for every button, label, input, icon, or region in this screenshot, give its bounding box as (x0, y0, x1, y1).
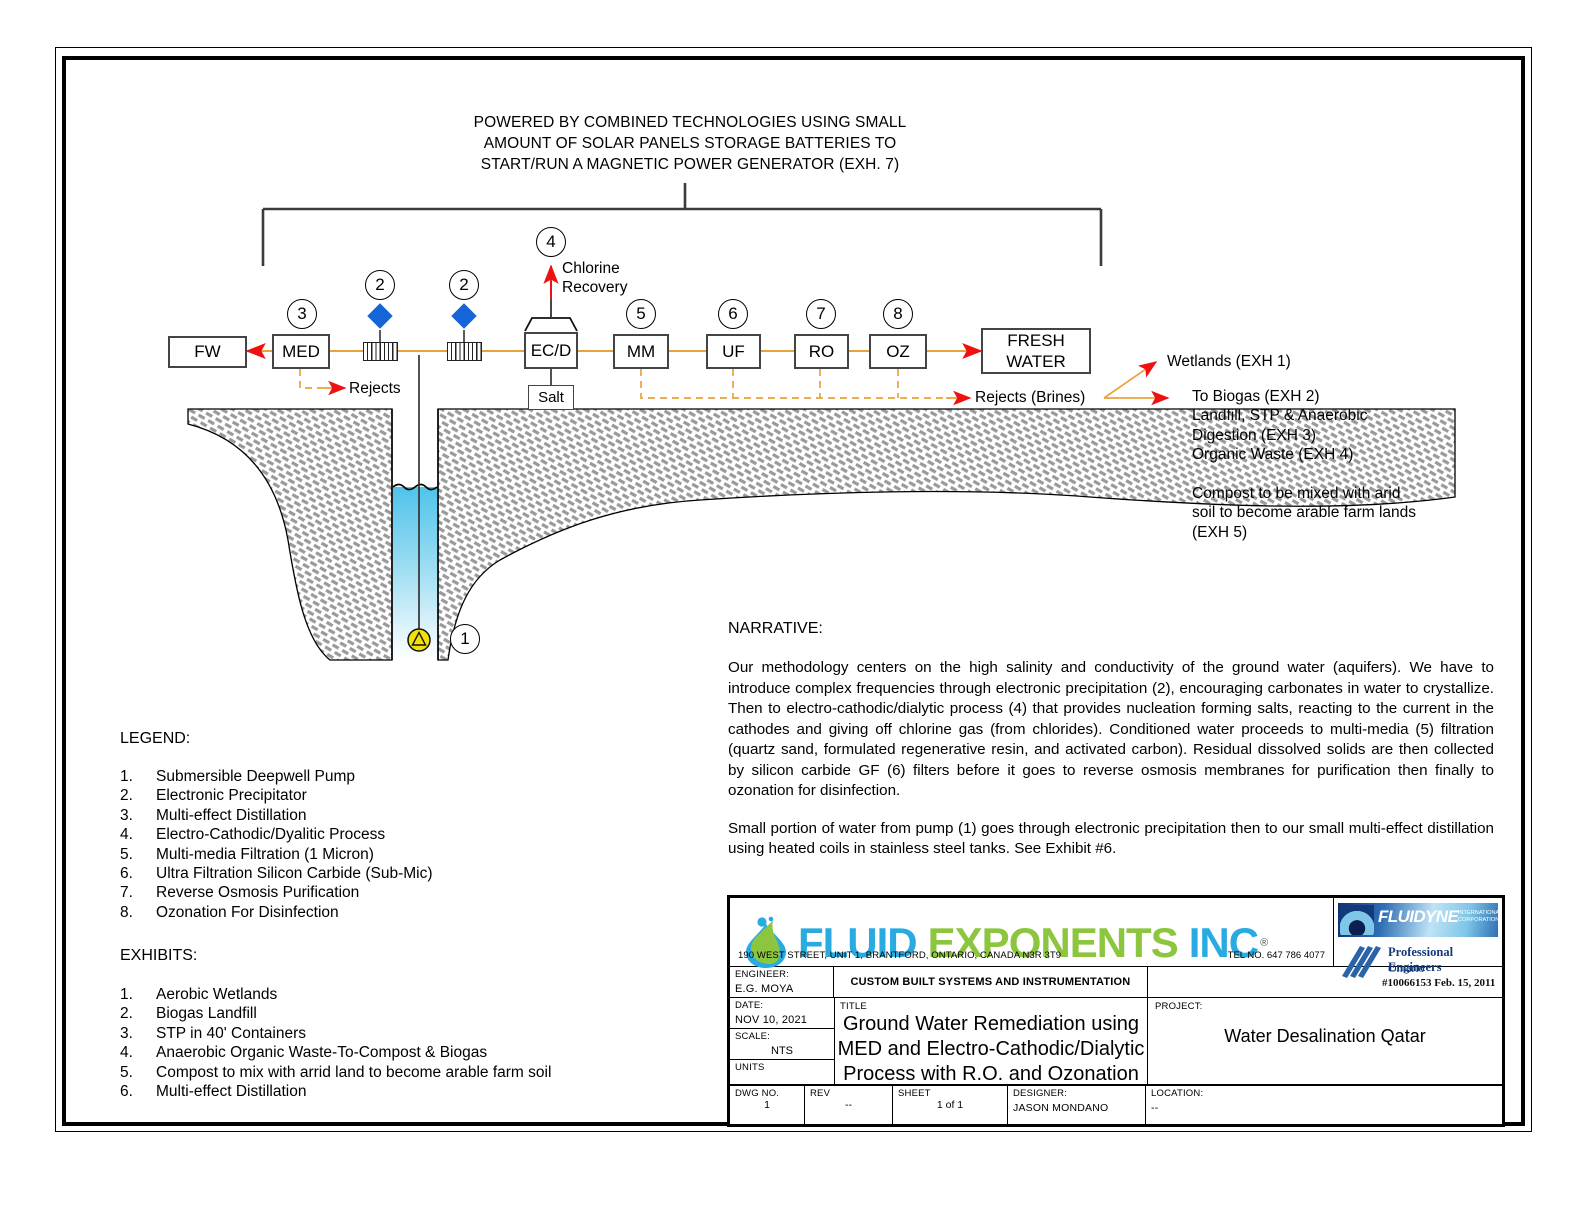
power-source-note: POWERED BY COMBINED TECHNOLOGIES USING S… (440, 112, 940, 175)
callout-3-med: 3 (287, 299, 317, 329)
company-logo-area: FLUID EXPONENTS INC ® 190 WEST STREET, U… (730, 898, 1334, 966)
legend-item-label: Multi-media Filtration (1 Micron) (156, 845, 374, 864)
callout-7-ro: 7 (806, 299, 836, 329)
registered-trademark-icon: ® (1260, 937, 1268, 949)
flow-box-oz[interactable]: OZ (869, 334, 927, 369)
exhibit-item-label: STP in 40' Containers (156, 1024, 306, 1043)
title-block-grid: ENGINEER: E.G. MOYA CUSTOM BUILT SYSTEMS… (730, 967, 1502, 1124)
location-value: -- (1151, 1102, 1497, 1114)
engineer-value: E.G. MOYA (735, 983, 828, 995)
fluidyne-subtext: INTERNATIONAL CORPORATION (1458, 910, 1498, 924)
drawing-title: Ground Water Remediation using MED and E… (835, 1012, 1147, 1087)
flow-box-mm[interactable]: MM (613, 334, 669, 369)
legend-item-label: Multi-effect Distillation (156, 806, 306, 825)
sheet-value: 1 of 1 (898, 1099, 1002, 1111)
narrative-heading: NARRATIVE: (728, 620, 823, 638)
filter-symbol-left (363, 342, 398, 361)
narrative-paragraph: Our methodology centers on the high sali… (728, 658, 1494, 802)
flow-box-ecd[interactable]: EC/D (524, 332, 578, 369)
legend-item-number: 1. (120, 767, 156, 786)
fluidyne-wordmark: FLUIDYNE (1378, 907, 1458, 927)
designer-key: DESIGNER: (1013, 1088, 1140, 1099)
flow-box-salt[interactable]: Salt (528, 385, 574, 410)
annotation-biogas-block: To Biogas (EXH 2) Landfill, STP & Anaero… (1192, 387, 1368, 465)
fluid-exponents-droplet-icon (740, 914, 792, 972)
brines-header-line (641, 369, 970, 398)
legend-item: 4.Electro-Cathodic/Dyalitic Process (120, 825, 640, 844)
dwg-key: DWG NO. (735, 1088, 799, 1099)
title-key: TITLE (840, 1001, 867, 1012)
scale-value: NTS (735, 1045, 829, 1057)
units-key: UNITS (735, 1062, 829, 1073)
med-rejects-line (300, 369, 345, 388)
exhibit-item-number: 2. (120, 1004, 156, 1023)
legend-item: 6.Ultra Filtration Silicon Carbide (Sub-… (120, 864, 640, 883)
legend-heading: LEGEND: (120, 730, 190, 748)
exhibit-item-number: 1. (120, 985, 156, 1004)
legend-item: 5.Multi-media Filtration (1 Micron) (120, 845, 640, 864)
legend-item-label: Ozonation For Disinfection (156, 903, 339, 922)
company-telephone: TEL NO. 647 786 4077 (1228, 950, 1325, 961)
project-key: PROJECT: (1155, 1001, 1203, 1012)
legend-item-number: 6. (120, 864, 156, 883)
project-name: Water Desalination Qatar (1148, 1024, 1502, 1048)
narrative-body: Our methodology centers on the high sali… (728, 658, 1494, 877)
power-source-bracket (263, 183, 1101, 266)
title-block: FLUID EXPONENTS INC ® 190 WEST STREET, U… (727, 895, 1505, 1127)
engineer-key: ENGINEER: (735, 969, 828, 980)
legend-item-label: Reverse Osmosis Purification (156, 883, 359, 902)
exhibit-item-label: Multi-effect Distillation (156, 1082, 306, 1101)
callout-2-precipitator-right: 2 (449, 270, 479, 300)
exhibit-item-label: Compost to mix with arrid land to become… (156, 1063, 551, 1082)
callout-1-pump: 1 (450, 624, 480, 654)
date-key: DATE: (735, 1000, 829, 1011)
rev-key: REV (810, 1088, 887, 1099)
exhibit-item: 4.Anaerobic Organic Waste-To-Compost & B… (120, 1043, 680, 1062)
flow-box-uf[interactable]: UF (706, 334, 761, 369)
label-rejects: Rejects (349, 379, 401, 398)
exhibit-item-number: 6. (120, 1082, 156, 1101)
legend-item-label: Electronic Precipitator (156, 786, 307, 805)
flow-box-fw[interactable]: FW (168, 336, 247, 368)
fluidyne-banner: FLUIDYNE INTERNATIONAL CORPORATION (1338, 903, 1498, 937)
legend-item: 7.Reverse Osmosis Purification (120, 883, 640, 902)
sheet-key: SHEET (898, 1088, 1002, 1099)
legend-item-number: 3. (120, 806, 156, 825)
legend-item-number: 4. (120, 825, 156, 844)
exhibit-item-number: 4. (120, 1043, 156, 1062)
annotation-compost-block: Compost to be mixed with arid soil to be… (1192, 484, 1416, 542)
exhibit-item: 6.Multi-effect Distillation (120, 1082, 680, 1101)
rev-value: -- (810, 1099, 887, 1111)
engineer-seal-area: FLUIDYNE INTERNATIONAL CORPORATION Profe… (1334, 898, 1502, 966)
company-address: 190 WEST STREET, UNIT 1, BRANTFORD, ONTA… (738, 950, 1061, 961)
exhibit-item: 1.Aerobic Wetlands (120, 985, 680, 1004)
exhibit-item: 5.Compost to mix with arrid land to beco… (120, 1063, 680, 1082)
callout-2-precipitator-left: 2 (365, 270, 395, 300)
label-chlorine-recovery: Chlorine Recovery (562, 259, 627, 297)
location-key: LOCATION: (1151, 1088, 1497, 1099)
legend-list: 1.Submersible Deepwell Pump2.Electronic … (120, 767, 640, 922)
exhibits-heading: EXHIBITS: (120, 947, 197, 965)
annotation-wetlands: Wetlands (EXH 1) (1167, 352, 1291, 371)
legend-item: 3.Multi-effect Distillation (120, 806, 640, 825)
exhibits-list: 1.Aerobic Wetlands2.Biogas Landfill3.STP… (120, 985, 680, 1101)
dwg-value: 1 (735, 1099, 799, 1111)
legend-item: 8.Ozonation For Disinfection (120, 903, 640, 922)
legend-item-label: Ultra Filtration Silicon Carbide (Sub-Mi… (156, 864, 433, 883)
exhibit-item: 2.Biogas Landfill (120, 1004, 680, 1023)
legend-item-number: 2. (120, 786, 156, 805)
exhibit-item-label: Anaerobic Organic Waste-To-Compost & Bio… (156, 1043, 487, 1062)
custom-banner: CUSTOM BUILT SYSTEMS AND INSTRUMENTATION (851, 976, 1131, 988)
date-value: NOV 10, 2021 (735, 1014, 829, 1026)
callout-4-ecd: 4 (536, 227, 566, 257)
legend-item-number: 7. (120, 883, 156, 902)
exhibit-item-number: 3. (120, 1024, 156, 1043)
exhibit-item-label: Biogas Landfill (156, 1004, 257, 1023)
callout-8-oz: 8 (883, 299, 913, 329)
legend-item-number: 5. (120, 845, 156, 864)
callout-5-mm: 5 (626, 299, 656, 329)
destination-arrows (1104, 362, 1168, 398)
flow-box-med[interactable]: MED (272, 334, 330, 369)
scale-key: SCALE: (735, 1031, 829, 1042)
label-rejects-brines: Rejects (Brines) (975, 388, 1085, 407)
flow-box-ro[interactable]: RO (794, 334, 849, 369)
flow-box-fresh-water[interactable]: FRESHWATER (981, 328, 1091, 374)
legend-item-label: Electro-Cathodic/Dyalitic Process (156, 825, 385, 844)
callout-6-uf: 6 (718, 299, 748, 329)
exhibit-item: 3.STP in 40' Containers (120, 1024, 680, 1043)
exhibit-item-number: 5. (120, 1063, 156, 1082)
legend-item-number: 8. (120, 903, 156, 922)
legend-item: 1.Submersible Deepwell Pump (120, 767, 640, 786)
legend-item: 2.Electronic Precipitator (120, 786, 640, 805)
title-block-logo-row: FLUID EXPONENTS INC ® 190 WEST STREET, U… (730, 898, 1502, 967)
legend-item-label: Submersible Deepwell Pump (156, 767, 355, 786)
narrative-paragraph: Small portion of water from pump (1) goe… (728, 819, 1494, 860)
filter-symbol-right (447, 342, 482, 361)
designer-value: JASON MONDANO (1013, 1102, 1140, 1114)
exhibit-item-label: Aerobic Wetlands (156, 985, 277, 1004)
